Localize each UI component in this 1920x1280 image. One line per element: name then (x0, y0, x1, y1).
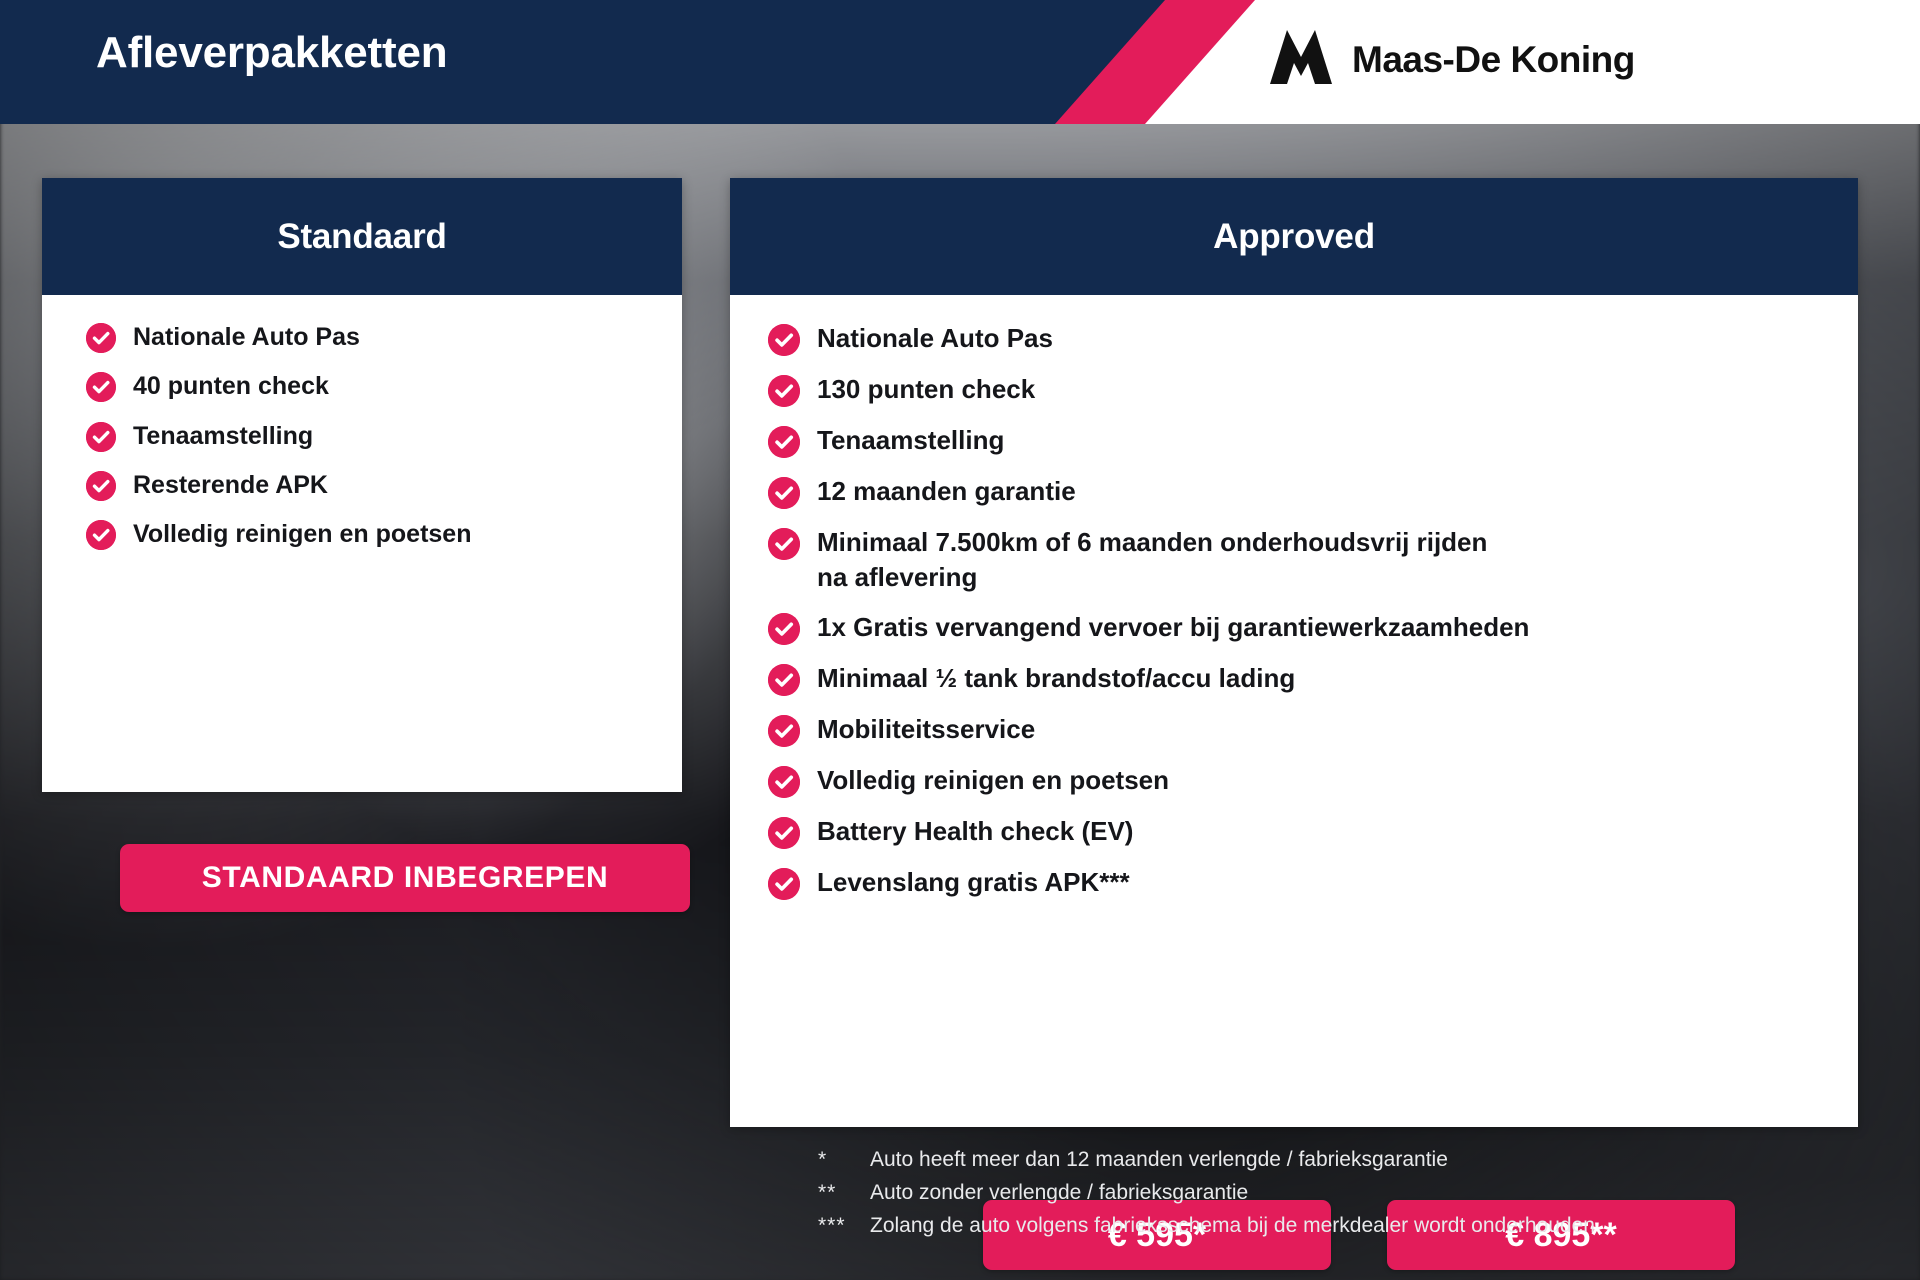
footnote-marker: * (818, 1148, 870, 1172)
package-card-approved: Approved Nationale Auto Pas (730, 178, 1858, 1127)
check-circle-icon (768, 766, 800, 798)
list-item: Minimaal 7.500km of 6 maanden onderhouds… (730, 525, 1508, 594)
footnote-row: *** Zolang de auto volgens fabrieksschem… (818, 1214, 1595, 1238)
feature-list-approved: Nationale Auto Pas 130 punten check (730, 321, 1858, 900)
feature-label: Nationale Auto Pas (817, 321, 1053, 356)
feature-label: Resterende APK (133, 469, 328, 502)
list-item: Tenaamstelling (42, 420, 682, 453)
footnote-text: Auto zonder verlengde / fabrieksgarantie (870, 1181, 1248, 1205)
brand-name: Maas-De Koning (1352, 39, 1635, 81)
check-circle-icon (768, 528, 800, 560)
list-item: 130 punten check (730, 372, 1858, 407)
header-bar: Afleverpakketten Maas-De Koning (0, 0, 1920, 124)
check-circle-icon (768, 375, 800, 407)
list-item: Minimaal ½ tank brandstof/accu lading (730, 661, 1858, 696)
footnote-row: ** Auto zonder verlengde / fabrieksgaran… (818, 1181, 1595, 1205)
check-circle-icon (86, 323, 116, 353)
card-body-approved: Nationale Auto Pas 130 punten check (730, 295, 1858, 900)
feature-label: 1x Gratis vervangend vervoer bij garanti… (817, 610, 1529, 645)
feature-label: Levenslang gratis APK*** (817, 865, 1130, 900)
footnote-marker: *** (818, 1214, 870, 1238)
feature-label: Minimaal 7.500km of 6 maanden onderhouds… (817, 525, 1508, 594)
feature-label: Tenaamstelling (817, 423, 1004, 458)
list-item: Resterende APK (42, 469, 682, 502)
feature-label: Volledig reinigen en poetsen (133, 518, 471, 551)
list-item: Mobiliteitsservice (730, 712, 1858, 747)
check-circle-icon (768, 817, 800, 849)
list-item: 40 punten check (42, 370, 682, 403)
footnote-text: Auto heeft meer dan 12 maanden verlengde… (870, 1148, 1448, 1172)
feature-label: 130 punten check (817, 372, 1035, 407)
list-item: 12 maanden garantie (730, 474, 1858, 509)
list-item: Battery Health check (EV) (730, 814, 1858, 849)
card-body-standaard: Nationale Auto Pas 40 punten check (42, 295, 682, 551)
standaard-inbegrepen-button[interactable]: STANDAARD INBEGREPEN (120, 844, 690, 912)
card-header-approved: Approved (730, 178, 1858, 295)
card-title: Approved (1213, 217, 1375, 257)
page-title: Afleverpakketten (96, 28, 447, 78)
check-circle-icon (768, 426, 800, 458)
feature-label: Minimaal ½ tank brandstof/accu lading (817, 661, 1295, 696)
package-card-standaard: Standaard Nationale Auto Pas (42, 178, 682, 792)
card-title: Standaard (277, 217, 446, 257)
card-header-standaard: Standaard (42, 178, 682, 295)
check-circle-icon (86, 471, 116, 501)
footnote-row: * Auto heeft meer dan 12 maanden verleng… (818, 1148, 1595, 1172)
feature-label: Battery Health check (EV) (817, 814, 1133, 849)
check-circle-icon (768, 664, 800, 696)
check-circle-icon (768, 477, 800, 509)
list-item: Tenaamstelling (730, 423, 1858, 458)
feature-label: 40 punten check (133, 370, 329, 403)
feature-label: Volledig reinigen en poetsen (817, 763, 1169, 798)
footnote-text: Zolang de auto volgens fabrieksschema bi… (870, 1214, 1595, 1238)
feature-label: Nationale Auto Pas (133, 321, 360, 354)
list-item: Volledig reinigen en poetsen (42, 518, 682, 551)
feature-list-standaard: Nationale Auto Pas 40 punten check (42, 321, 682, 551)
feature-label: Mobiliteitsservice (817, 712, 1035, 747)
list-item: Volledig reinigen en poetsen (730, 763, 1858, 798)
check-circle-icon (86, 520, 116, 550)
check-circle-icon (768, 868, 800, 900)
feature-label: 12 maanden garantie (817, 474, 1076, 509)
check-circle-icon (768, 715, 800, 747)
list-item: Levenslang gratis APK*** (730, 865, 1858, 900)
footnote-marker: ** (818, 1181, 870, 1205)
check-circle-icon (768, 324, 800, 356)
check-circle-icon (768, 613, 800, 645)
feature-label: Tenaamstelling (133, 420, 313, 453)
slide-root: Afleverpakketten Maas-De Koning Standaar… (0, 0, 1920, 1280)
brand-lockup: Maas-De Koning (1270, 30, 1635, 89)
check-circle-icon (86, 372, 116, 402)
list-item: 1x Gratis vervangend vervoer bij garanti… (730, 610, 1858, 645)
maas-de-koning-m-logo-icon (1270, 30, 1332, 89)
check-circle-icon (86, 422, 116, 452)
list-item: Nationale Auto Pas (730, 321, 1858, 356)
list-item: Nationale Auto Pas (42, 321, 682, 354)
footnotes-block: * Auto heeft meer dan 12 maanden verleng… (818, 1148, 1595, 1247)
